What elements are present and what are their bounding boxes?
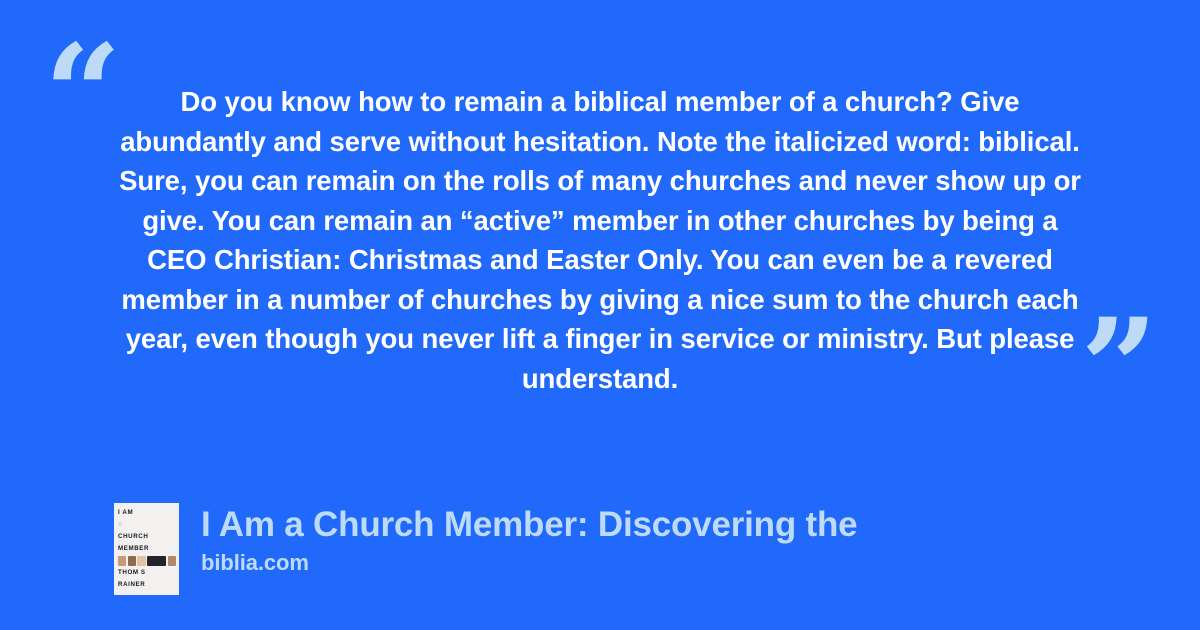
cover-face-2 xyxy=(128,556,136,566)
quote-text: Do you know how to remain a biblical mem… xyxy=(112,82,1088,398)
book-cover-line-5: THOM S xyxy=(118,567,176,579)
book-cover-grid: I AM A CHURCH MEMBER THOM S RAINER xyxy=(114,503,179,595)
book-cover-line-6: RAINER xyxy=(118,579,176,591)
book-cover-line-3: CHURCH xyxy=(118,531,176,543)
closing-quote-icon: ” xyxy=(1080,300,1158,435)
book-cover-thumbnail: I AM A CHURCH MEMBER THOM S RAINER xyxy=(114,503,179,595)
quote-block: “ Do you know how to remain a biblical m… xyxy=(0,0,1200,440)
cover-face-3 xyxy=(137,556,145,566)
book-title[interactable]: I Am a Church Member: Discovering the xyxy=(201,504,857,546)
opening-quote-icon: “ xyxy=(44,26,122,161)
book-cover-face-strip xyxy=(118,555,176,567)
book-cover-line-2: A xyxy=(118,519,176,531)
cover-face-1 xyxy=(118,556,126,566)
cover-face-4 xyxy=(168,556,176,566)
book-cover-line-4: MEMBER xyxy=(118,543,176,555)
quote-card: “ Do you know how to remain a biblical m… xyxy=(0,0,1200,630)
book-cover-line-1: I AM xyxy=(118,507,176,519)
cover-dark-block xyxy=(147,556,166,566)
footer: I AM A CHURCH MEMBER THOM S RAINER I Am … xyxy=(114,503,857,595)
site-name[interactable]: biblia.com xyxy=(201,550,857,576)
footer-text: I Am a Church Member: Discovering the bi… xyxy=(201,503,857,576)
